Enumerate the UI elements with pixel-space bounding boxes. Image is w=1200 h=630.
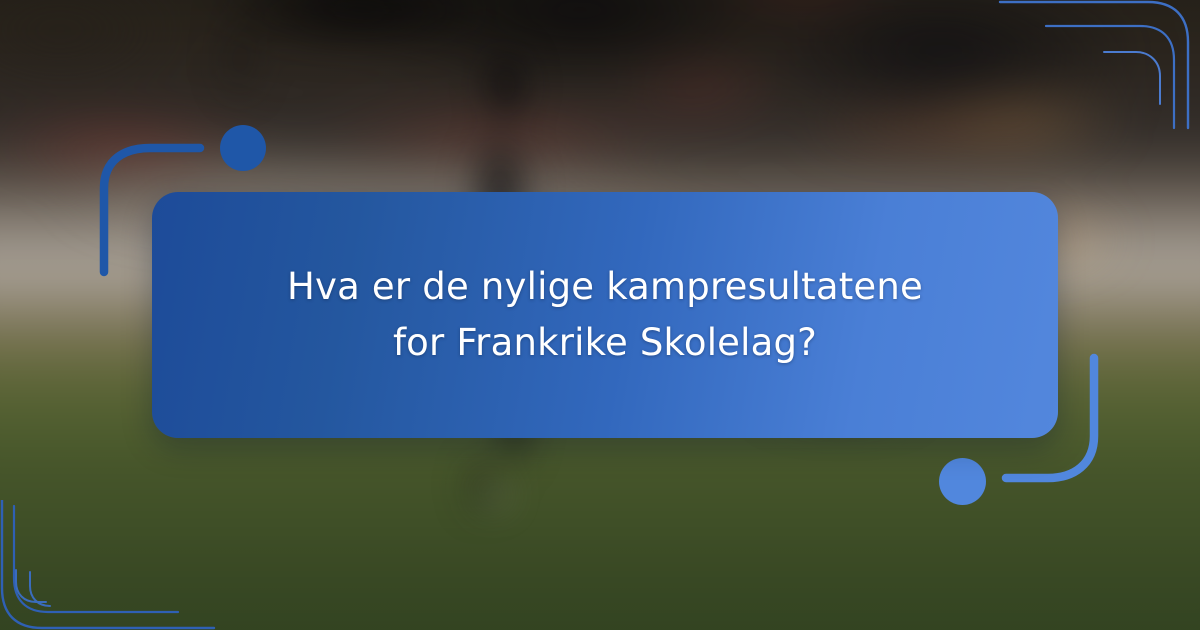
decorative-dot-left bbox=[220, 125, 266, 171]
question-text: Hva er de nylige kampresultatene for Fra… bbox=[275, 259, 935, 371]
social-card-image: Hva er de nylige kampresultatene for Fra… bbox=[0, 0, 1200, 630]
question-card: Hva er de nylige kampresultatene for Fra… bbox=[152, 192, 1058, 438]
decorative-dot-right bbox=[939, 458, 986, 505]
